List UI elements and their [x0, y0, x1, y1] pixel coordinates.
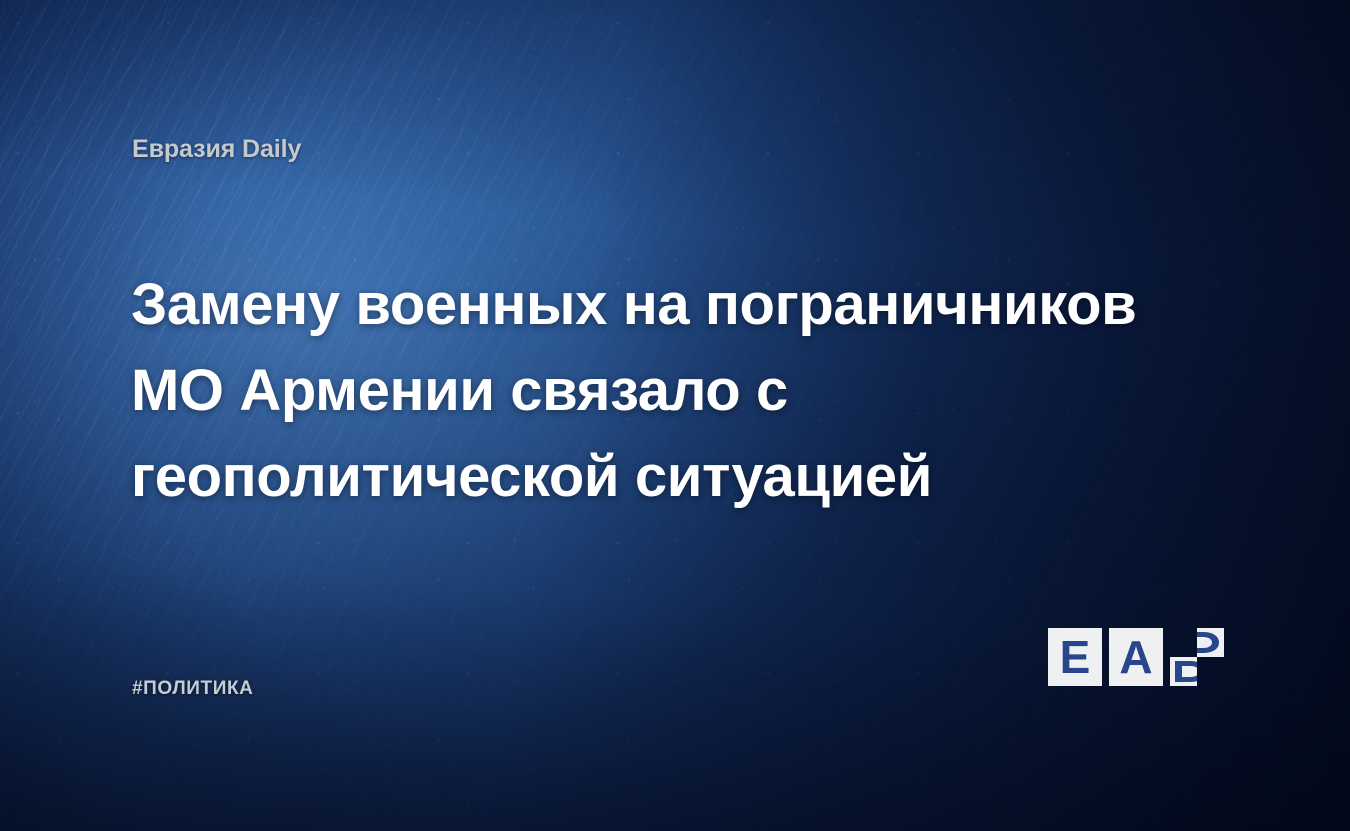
eadaily-logo: E A: [1048, 628, 1224, 686]
category-hashtag: #ПОЛИТИКА: [132, 678, 254, 700]
logo-tile-e: E: [1048, 628, 1102, 686]
logo-tile-dd: [1170, 628, 1224, 686]
brand-name: Евразия Daily: [132, 135, 301, 164]
logo-quad-top-right: [1197, 628, 1224, 657]
card-content: Евразия Daily Замену военных на погранич…: [0, 0, 1350, 831]
logo-quad-bottom-right: [1197, 657, 1224, 686]
logo-letter-a: A: [1119, 634, 1152, 680]
logo-d-icon-top: [1197, 628, 1224, 657]
logo-d-icon-bottom: [1170, 657, 1197, 686]
article-headline: Замену военных на пограничников МО Армен…: [131, 262, 1201, 520]
logo-tile-a: A: [1109, 628, 1163, 686]
logo-quad-grid: [1170, 628, 1224, 686]
social-share-card: Евразия Daily Замену военных на погранич…: [0, 0, 1350, 831]
logo-letter-e: E: [1060, 634, 1091, 680]
logo-quad-bottom-left: [1170, 657, 1197, 686]
logo-quad-top-left: [1170, 628, 1197, 657]
